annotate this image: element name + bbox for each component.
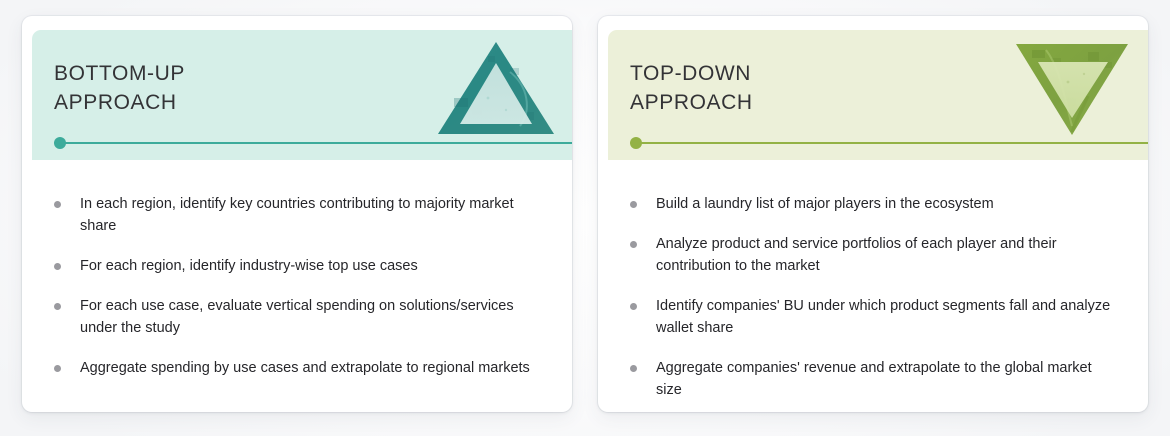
list-item: Aggregate companies' revenue and extrapo… <box>628 357 1118 401</box>
triangle-down-icon <box>1012 38 1132 138</box>
bullet-list-top-down: Build a laundry list of major players in… <box>628 193 1118 401</box>
infographic-stage: BOTTOM-UP APPROACH In each region, ident… <box>0 0 1170 436</box>
approach-cards-container: BOTTOM-UP APPROACH In each region, ident… <box>22 16 1148 412</box>
bullet-dot-icon <box>54 303 61 310</box>
card-top-down: TOP-DOWN APPROACH Build a laundry list o… <box>598 16 1148 412</box>
bullet-list-bottom-up: In each region, identify key countries c… <box>52 193 542 379</box>
list-item: Analyze product and service portfolios o… <box>628 233 1118 277</box>
bullet-dot-icon <box>630 241 637 248</box>
list-item-text: For each region, identify industry-wise … <box>80 258 418 274</box>
list-item-text: Aggregate spending by use cases and extr… <box>80 360 530 376</box>
bullet-dot-icon <box>630 201 637 208</box>
header-rule-top-down <box>630 142 1148 144</box>
list-item-text: Identify companies' BU under which produ… <box>656 298 1110 336</box>
list-item: In each region, identify key countries c… <box>52 193 542 237</box>
list-item: Identify companies' BU under which produ… <box>628 295 1118 339</box>
list-item: Aggregate spending by use cases and extr… <box>52 357 542 379</box>
card-header-bottom-up: BOTTOM-UP APPROACH <box>32 30 572 160</box>
list-item: For each region, identify industry-wise … <box>52 255 542 277</box>
bullet-dot-icon <box>630 303 637 310</box>
card-title-bottom-up: BOTTOM-UP APPROACH <box>54 59 185 117</box>
header-rule-dot <box>630 137 642 149</box>
card-header-top-down: TOP-DOWN APPROACH <box>608 30 1148 160</box>
header-rule-line <box>60 142 572 144</box>
bullet-dot-icon <box>54 263 61 270</box>
list-item-text: In each region, identify key countries c… <box>80 196 514 234</box>
bullet-dot-icon <box>54 201 61 208</box>
header-rule-bottom-up <box>54 142 572 144</box>
list-item: For each use case, evaluate vertical spe… <box>52 295 542 339</box>
list-item: Build a laundry list of major players in… <box>628 193 1118 215</box>
card-body-top-down: Build a laundry list of major players in… <box>598 160 1148 412</box>
bullet-dot-icon <box>54 365 61 372</box>
card-title-top-down: TOP-DOWN APPROACH <box>630 59 753 117</box>
triangle-up-icon <box>436 38 556 138</box>
list-item-text: Build a laundry list of major players in… <box>656 196 994 212</box>
header-rule-dot <box>54 137 66 149</box>
card-body-bottom-up: In each region, identify key countries c… <box>22 160 572 412</box>
card-bottom-up: BOTTOM-UP APPROACH In each region, ident… <box>22 16 572 412</box>
header-rule-line <box>636 142 1148 144</box>
bullet-dot-icon <box>630 365 637 372</box>
list-item-text: Analyze product and service portfolios o… <box>656 236 1057 274</box>
list-item-text: Aggregate companies' revenue and extrapo… <box>656 360 1092 398</box>
list-item-text: For each use case, evaluate vertical spe… <box>80 298 514 336</box>
